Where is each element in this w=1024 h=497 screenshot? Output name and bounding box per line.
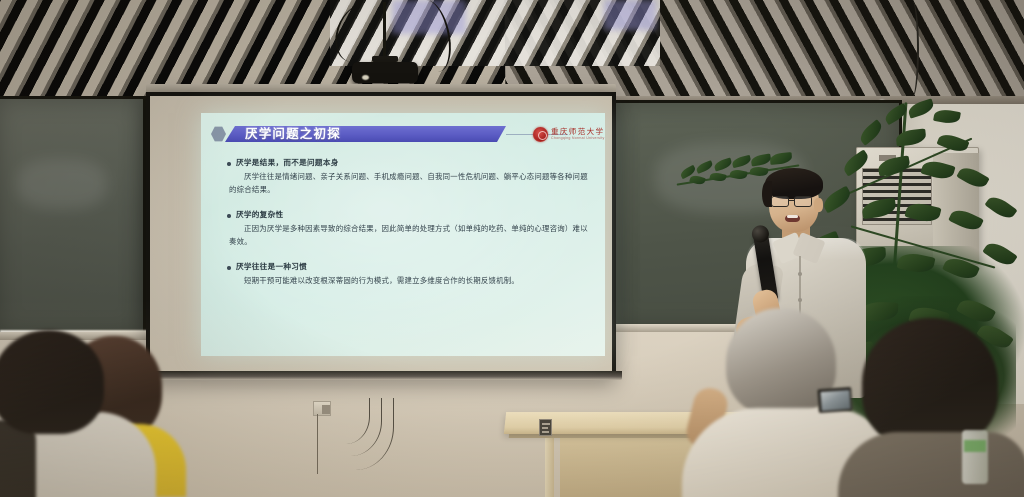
eyeglasses-left-lens-icon [771,196,789,207]
ceiling-projector [352,62,418,83]
university-seal-icon [533,127,548,142]
desk-control-panel[interactable] [539,419,552,436]
sprig-leaf [689,174,706,186]
left-chalkboard [0,96,146,338]
bullet-dot-icon [227,266,231,270]
bullet-dot-icon [227,162,231,166]
projector-lens-icon [362,75,369,80]
projector-mount-arm [383,2,386,64]
plant-leaf [920,158,955,182]
university-name: 重庆师范大学 [551,127,605,136]
chalk-smudge [17,159,107,209]
smartphone[interactable] [817,387,853,413]
presentation-slide: 厌学问题之初探 重庆师范大学 Chongqing Normal Universi… [201,113,605,356]
control-panel-line [542,431,549,433]
bottle-label [964,440,986,452]
presenter-hair [765,168,823,199]
desk-leg [545,436,554,497]
plant-leaf [948,206,984,234]
shirt-button [798,298,802,302]
slide-bullet: 厌学往往是一种习惯 [227,261,589,272]
smartphone-screen [820,390,850,411]
wall-cable-4 [316,414,318,474]
university-subtitle: Chongqing Normal University [551,136,605,141]
slide-bullet: 厌学是结果，而不是问题本身 [227,157,589,168]
shirt-button [798,272,802,276]
plant-leaf [956,164,989,192]
slide-bullet-heading: 厌学是结果，而不是问题本身 [236,157,339,168]
sprig-leaf [709,171,726,183]
slide-bullet-body: 正因为厌学是多种因素导致的综合结果，因此简单的处理方式（如单纯的吃药、单纯的心理… [229,222,589,248]
slide-bullet-body: 厌学往往是情绪问题、亲子关系问题、手机成瘾问题、自我同一性危机问题、躺平心态问题… [229,170,589,196]
presenter-ear [814,198,823,212]
plant-leaf [984,193,1017,223]
microphone-head-icon [751,224,770,243]
sprig-leaf [731,155,752,168]
lecture-hall-photo: 厌学问题之初探 重庆师范大学 Chongqing Normal Universi… [0,0,1024,497]
university-logo: 重庆师范大学 Chongqing Normal University [533,123,605,145]
control-panel-line [542,423,550,425]
audience-member-torso-right [838,432,1024,497]
eyeglasses-right-lens-icon [794,196,812,207]
audience-member-dark-hair-right [862,318,998,448]
eyeglasses-bridge-icon [789,200,795,201]
plant-leaf [904,200,941,225]
sprig-leaf [770,152,793,165]
plant-leaf [857,119,885,146]
ceiling-light-reflection-2 [604,0,656,30]
ceiling-cable-3 [905,0,919,98]
audience-member-dark-hair-left [0,330,104,434]
bullet-dot-icon [227,214,231,218]
slide-title: 厌学问题之初探 [245,126,505,142]
slide-bullet-body: 短期干预可能难以改变根深蒂固的行为模式，需建立多维度合作的长期反馈机制。 [229,274,589,287]
control-panel-line [542,427,548,429]
slide-bullet-heading: 厌学的复杂性 [236,209,283,220]
projection-screen-bottom-bar [142,371,622,380]
plant-leaf [933,108,961,125]
presenter-mouth [785,215,800,222]
plant-leaf [895,128,926,146]
slide-bullet: 厌学的复杂性 [227,209,589,220]
plant-leaf [907,98,936,118]
water-bottle [962,430,988,484]
sprig-leaf [695,160,714,174]
outlet-socket-icon [322,405,330,414]
sprig-leaf [750,153,771,166]
slide-bullet-heading: 厌学往往是一种习惯 [236,261,307,272]
slide-body: 厌学是结果，而不是问题本身 厌学往往是情绪问题、亲子关系问题、手机成瘾问题、自我… [227,157,589,300]
